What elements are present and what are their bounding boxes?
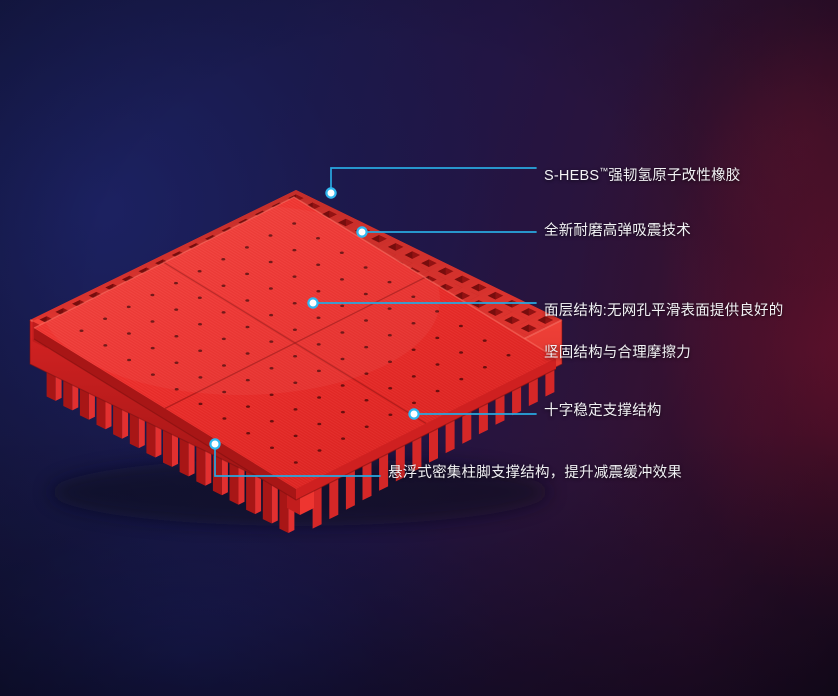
- callout-label-2: 全新耐磨高弹吸震技术: [544, 221, 691, 242]
- callout-label-5: 悬浮式密集柱脚支撑结构，提升减震缓冲效果: [388, 463, 682, 484]
- trademark-symbol: ™: [599, 166, 608, 176]
- callout-label-3-line2: 坚固结构与合理摩擦力: [544, 343, 834, 364]
- headline-block: 悬浮地板 TPES强分子弹性体材料: [0, 519, 838, 649]
- callout-label-4: 十字稳定支撑结构: [544, 401, 662, 422]
- callout-label-3-line1: 面层结构:无网孔平滑表面提供良好的: [544, 301, 834, 322]
- callout-label-1: S-HEBS™强韧氢原子改性橡胶: [544, 161, 741, 187]
- poster-canvas: S-HEBS™强韧氢原子改性橡胶 全新耐磨高弹吸震技术 面层结构:无网孔平滑表面…: [0, 0, 838, 696]
- callout-label-1-main: S-HEBS: [544, 168, 599, 184]
- callout-label-1-rest: 强韧氢原子改性橡胶: [608, 168, 740, 184]
- callout-label-3: 面层结构:无网孔平滑表面提供良好的 坚固结构与合理摩擦力: [544, 280, 834, 385]
